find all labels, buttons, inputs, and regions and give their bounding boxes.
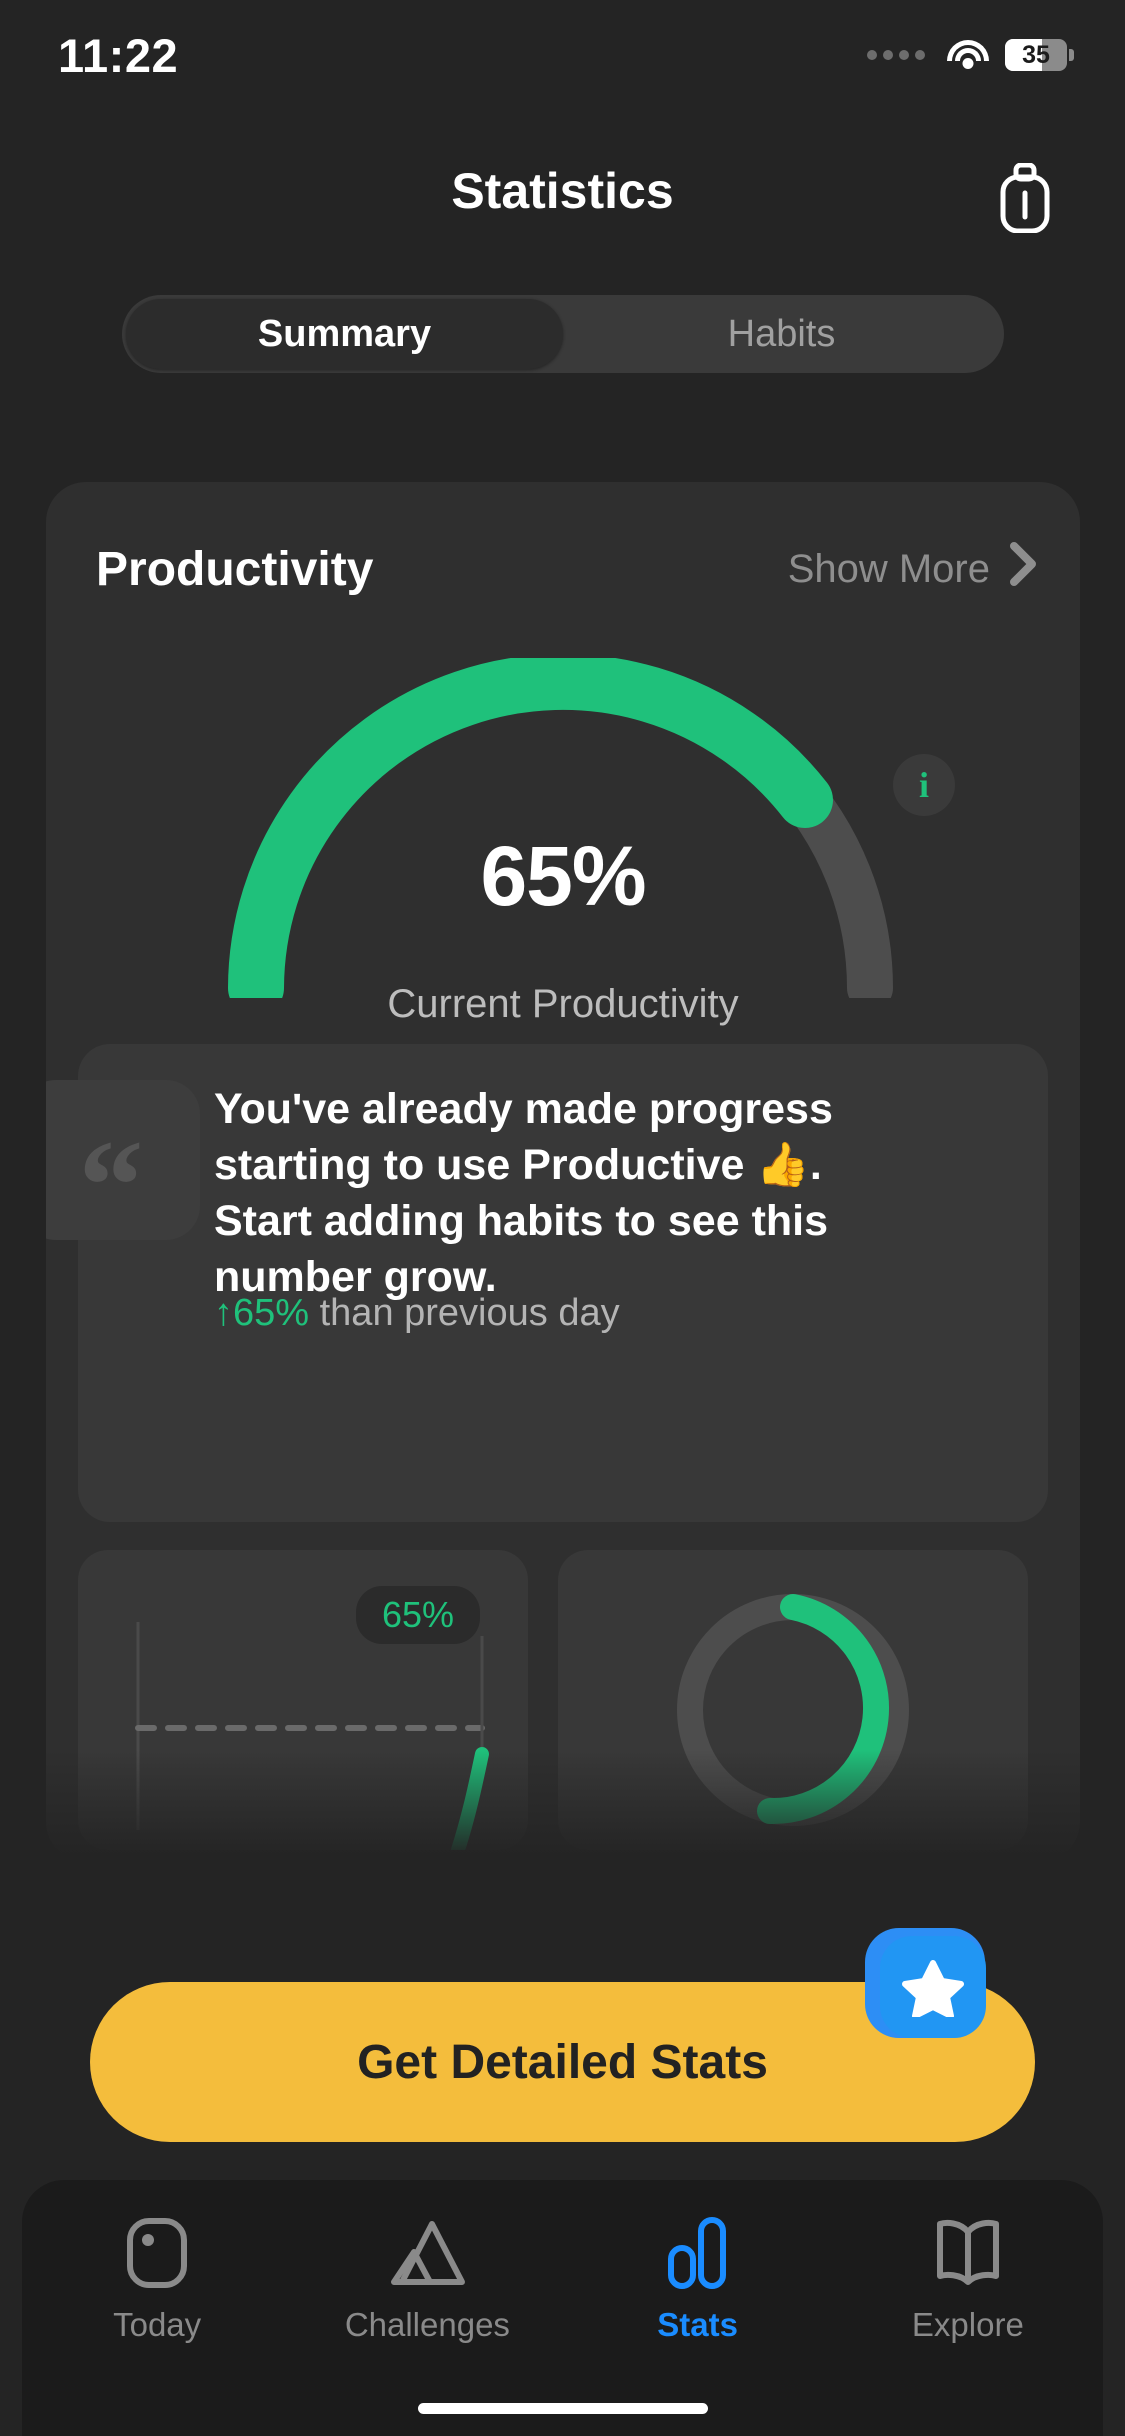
gauge-caption: Current Productivity xyxy=(46,982,1080,1027)
book-icon xyxy=(932,2216,1004,2290)
star-badge-icon[interactable] xyxy=(880,1936,986,2038)
tab-today-label: Today xyxy=(113,2306,201,2344)
tab-challenges-label: Challenges xyxy=(345,2306,510,2344)
tab-habits-label: Habits xyxy=(728,313,836,356)
status-bar-time: 11:22 xyxy=(58,28,178,83)
home-indicator xyxy=(418,2403,708,2414)
battery-level: 35 xyxy=(1005,39,1067,71)
tab-explore[interactable]: Explore xyxy=(833,2216,1103,2344)
productivity-card-header: Productivity Show More xyxy=(96,540,1038,598)
app-screen: 11:22 35 Statistics xyxy=(0,0,1125,2436)
trash-icon[interactable] xyxy=(987,156,1063,240)
tab-summary-label: Summary xyxy=(258,313,431,356)
chevron-right-icon xyxy=(1008,540,1038,598)
quote-delta-value: ↑65% xyxy=(214,1292,309,1334)
quote-delta: ↑65% than previous day xyxy=(214,1292,620,1335)
status-bar-indicators: 35 xyxy=(867,39,1067,71)
scroll-fade-overlay xyxy=(0,1750,1125,1900)
productivity-card: Productivity Show More 65% i Current Pro… xyxy=(46,482,1080,1862)
status-bar: 11:22 35 xyxy=(0,0,1125,110)
bar-chart-icon xyxy=(665,2216,731,2290)
show-more-label: Show More xyxy=(788,547,990,592)
productivity-gauge: 65% xyxy=(46,658,1080,1018)
tab-stats[interactable]: Stats xyxy=(563,2216,833,2344)
battery-icon: 35 xyxy=(1005,39,1067,71)
info-icon[interactable]: i xyxy=(893,754,955,816)
signal-dots-icon xyxy=(867,50,925,60)
mini-line-chart-badge: 65% xyxy=(356,1586,480,1644)
page-title: Statistics xyxy=(0,162,1125,220)
segmented-control[interactable]: Summary Habits xyxy=(122,295,1004,373)
tab-habits[interactable]: Habits xyxy=(563,299,1000,369)
show-more-button[interactable]: Show More xyxy=(788,540,1038,598)
get-detailed-stats-label: Get Detailed Stats xyxy=(357,2035,768,2090)
wifi-icon xyxy=(947,40,989,70)
bottom-tab-bar: Today Challenges Stats xyxy=(22,2180,1103,2436)
quote-delta-rest: than previous day xyxy=(309,1292,620,1334)
productivity-title: Productivity xyxy=(96,542,373,597)
mountain-icon xyxy=(384,2216,470,2290)
quote-text: You've already made progress starting to… xyxy=(214,1082,854,1306)
gauge-value: 65% xyxy=(46,828,1080,925)
tab-summary[interactable]: Summary xyxy=(126,299,563,369)
nav-bar: Statistics xyxy=(0,148,1125,258)
calendar-today-icon xyxy=(124,2216,190,2290)
tab-stats-label: Stats xyxy=(657,2306,738,2344)
tab-explore-label: Explore xyxy=(912,2306,1024,2344)
tab-challenges[interactable]: Challenges xyxy=(292,2216,562,2344)
tab-today[interactable]: Today xyxy=(22,2216,292,2344)
quote-mark-icon: “ xyxy=(46,1080,200,1240)
